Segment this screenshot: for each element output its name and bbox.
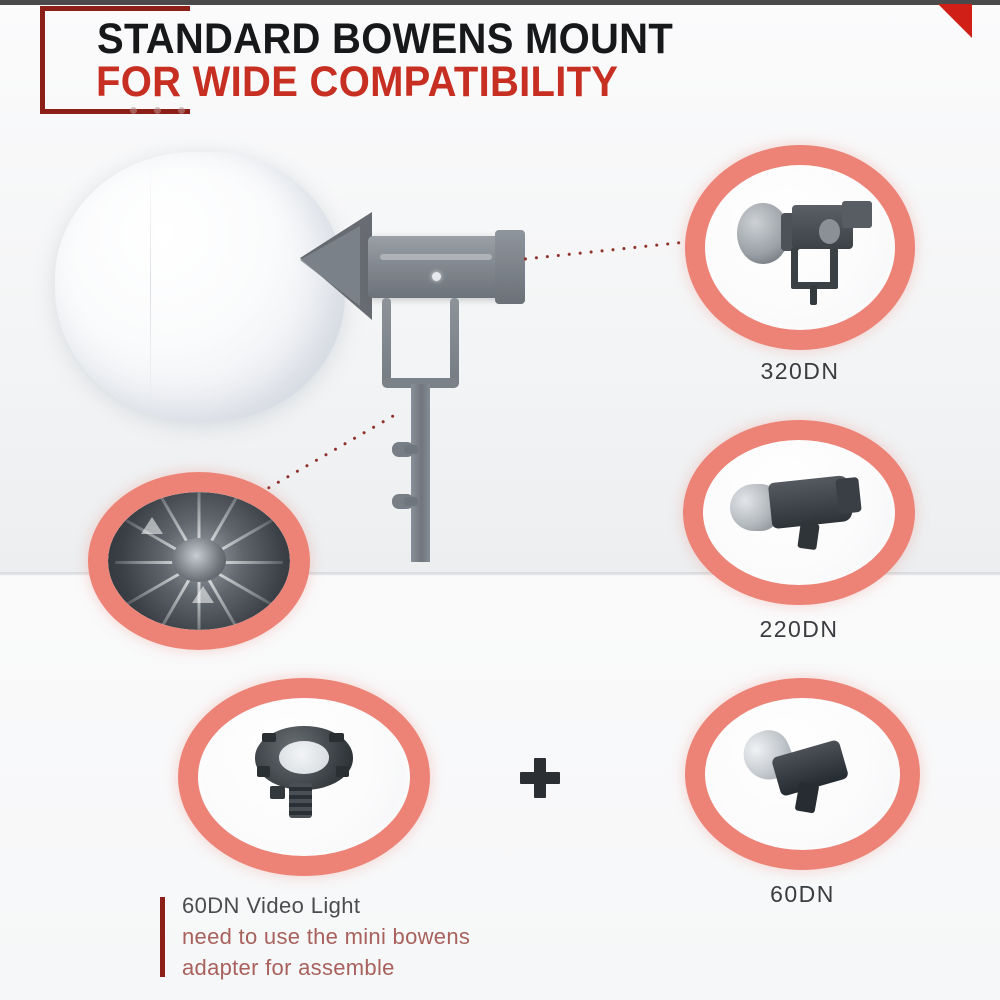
light-220dn-art [703,440,895,585]
callout-320dn[interactable]: 320DN [685,145,915,350]
lantern-panel [192,586,214,603]
title-line-1: STANDARD BOWENS MOUNT [97,17,673,61]
callout-label-220dn: 220DN [683,616,915,643]
corner-triangle-icon [938,4,972,38]
adapter-notch [257,766,270,777]
title-line-2: FOR WIDE COMPATIBILITY [96,60,618,104]
light-tail [842,201,872,227]
lantern-panel [141,517,163,534]
adapter-notch [262,733,277,742]
header-dots-decor [130,107,200,116]
lantern-hub [172,538,227,582]
adapter-release-tab [270,786,285,799]
yoke-arm-left [382,298,391,386]
light-stand-column [411,384,430,562]
note-line-2: need to use the mini bowens [182,924,470,950]
lantern-interior-art [108,492,290,630]
adapter-mount-stem [289,783,312,818]
callout-60dn[interactable]: 60DN [685,678,920,870]
mount-stem [810,285,818,305]
callout-lantern-interior[interactable] [88,472,310,650]
led-light-ridge [380,254,492,260]
callout-mini-bowens-adapter[interactable] [178,678,430,876]
callout-220dn[interactable]: 220DN [683,420,915,605]
adapter-notch [329,733,344,742]
header: STANDARD BOWENS MOUNT FOR WIDE COMPATIBI… [0,0,1000,130]
bowens-adapter-art [198,698,410,856]
plus-icon [520,758,560,798]
adapter-notch [336,766,349,777]
adapter-inner-aperture [279,741,330,774]
led-light-indicator [432,272,441,281]
header-dot [130,107,137,114]
led-light-head [368,236,508,298]
note-line-1: 60DN Video Light [182,893,360,919]
note-accent-bar [160,897,165,977]
infographic-canvas: STANDARD BOWENS MOUNT FOR WIDE COMPATIBI… [0,0,1000,1000]
note-line-3: adapter for assemble [182,955,395,981]
led-light-rear-cap [495,230,525,304]
light-rear-cap [836,477,863,514]
header-dot [154,107,161,114]
mount-stem [794,782,818,814]
callout-label-60dn: 60DN [685,881,920,908]
header-dot [178,107,185,114]
light-adjust-knob [819,219,840,244]
stand-knob-stem [404,497,418,506]
yoke-arm-right [450,298,459,386]
light-320dn-art [705,165,895,330]
stand-knob-stem [404,445,418,454]
lantern-seam [150,160,151,412]
callout-label-320dn: 320DN [685,358,915,385]
yoke-arm-right [830,248,838,288]
mount-stem [797,521,820,550]
light-60dn-art [705,698,900,850]
speed-ring-cone-inner [300,226,360,306]
yoke-arm-left [791,248,799,288]
